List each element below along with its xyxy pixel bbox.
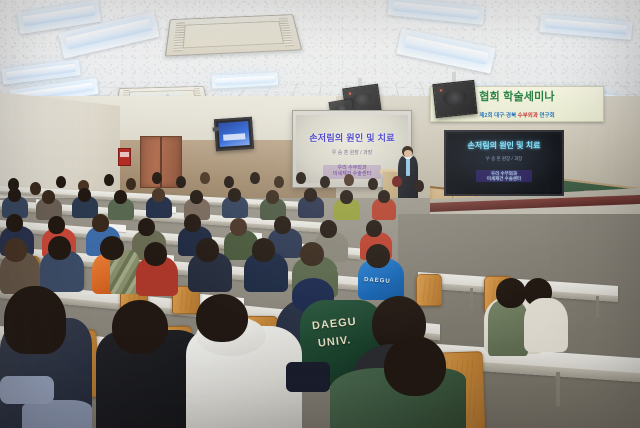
audience-head bbox=[274, 216, 291, 234]
audience-head bbox=[92, 214, 109, 232]
projection-screen-secondary: 손저림의 원인 및 치료 우 승 훈 원장 / 과장 우리 수부외과 미세재건 … bbox=[444, 130, 564, 196]
audience-head bbox=[224, 176, 234, 188]
audience-head bbox=[152, 188, 165, 202]
audience-head bbox=[266, 190, 279, 204]
desk-leg bbox=[596, 296, 599, 318]
audience-head bbox=[48, 216, 65, 234]
audience-head bbox=[200, 172, 210, 184]
audience-head bbox=[6, 214, 23, 232]
banner-subtitle-prefix: 제2회 대구·경북 bbox=[479, 113, 517, 119]
audience-head bbox=[320, 176, 330, 188]
chair[interactable] bbox=[416, 274, 442, 306]
audience-head bbox=[366, 220, 382, 237]
projected-slide-secondary: 손저림의 원인 및 치료 우 승 훈 원장 / 과장 우리 수부외과 미세재건 … bbox=[448, 134, 560, 192]
presenter-tie bbox=[406, 159, 410, 176]
audience-head bbox=[190, 190, 203, 204]
audience-head bbox=[296, 172, 306, 184]
audience-head bbox=[30, 182, 41, 195]
audience-head bbox=[300, 242, 324, 266]
lecture-hall-photo: 협회 학술세미나 제2회 대구·경북 수부외과 연구회 손저림의 원인 및 치료… bbox=[0, 0, 640, 428]
audience-head bbox=[196, 294, 248, 342]
audience-head bbox=[304, 188, 317, 202]
audience-head bbox=[366, 244, 390, 268]
desk-leg bbox=[556, 372, 560, 406]
audience-head bbox=[78, 188, 91, 202]
audience-head bbox=[4, 238, 27, 262]
slide-badge-secondary: 우리 수부외과 미세재건 수술센터 bbox=[476, 170, 532, 182]
slide-subtitle-secondary: 우 승 훈 원장 / 과장 bbox=[448, 156, 560, 162]
monitor-screen-band bbox=[223, 134, 246, 141]
audience-head bbox=[344, 174, 354, 186]
audience-head bbox=[250, 172, 260, 184]
slide-badge-secondary-line2: 미세재건 수술센터 bbox=[479, 176, 529, 181]
audience-head bbox=[104, 174, 114, 186]
banner-subtitle-accent: 수부외과 bbox=[518, 113, 538, 119]
audience-head bbox=[378, 190, 390, 203]
audience-head bbox=[126, 178, 136, 190]
ac-vent-icon bbox=[165, 14, 302, 56]
audience-head bbox=[384, 336, 446, 396]
audience-head bbox=[196, 238, 219, 262]
audience-head bbox=[496, 278, 526, 308]
audience-head bbox=[152, 172, 162, 184]
audience-head bbox=[56, 176, 66, 188]
audience-head bbox=[144, 242, 167, 266]
monitor-screen bbox=[218, 121, 250, 147]
audience-head bbox=[4, 286, 66, 354]
audience-torso bbox=[524, 298, 568, 352]
audience-head bbox=[392, 176, 402, 187]
audience-head bbox=[320, 220, 337, 238]
audience-head bbox=[340, 190, 353, 204]
banner-subtitle-suffix: 연구회 bbox=[538, 113, 555, 119]
audience-torso bbox=[22, 400, 92, 428]
audience-head bbox=[176, 176, 186, 188]
audience-head bbox=[414, 180, 424, 192]
audience-head bbox=[252, 238, 275, 262]
desk-leg bbox=[470, 288, 473, 308]
audience-head bbox=[274, 176, 284, 188]
audience-head bbox=[230, 218, 247, 236]
audience-head bbox=[228, 188, 241, 202]
slide-subtitle: 우 승 훈 원장 / 과장 bbox=[296, 149, 408, 156]
audience-head bbox=[368, 178, 378, 190]
audience-head bbox=[184, 214, 201, 232]
slide-title-secondary: 손저림의 원인 및 치료 bbox=[448, 140, 560, 151]
audience-head bbox=[42, 190, 55, 204]
backpack bbox=[286, 362, 330, 392]
folded-clothing bbox=[0, 376, 54, 404]
wall-monitor[interactable] bbox=[214, 117, 254, 152]
presenter-face bbox=[404, 150, 412, 157]
presenter bbox=[398, 146, 418, 204]
audience-head bbox=[100, 236, 124, 260]
audience-head bbox=[112, 300, 168, 354]
audience-head bbox=[114, 190, 127, 204]
slide-title: 손저림의 원인 및 치료 bbox=[296, 131, 408, 144]
fire-extinguisher-box-icon bbox=[118, 148, 131, 166]
audience-head bbox=[138, 218, 155, 236]
audience-head bbox=[48, 236, 71, 260]
audience-vest bbox=[488, 300, 528, 356]
ceiling-speaker bbox=[432, 80, 477, 118]
audience-head bbox=[8, 188, 21, 202]
